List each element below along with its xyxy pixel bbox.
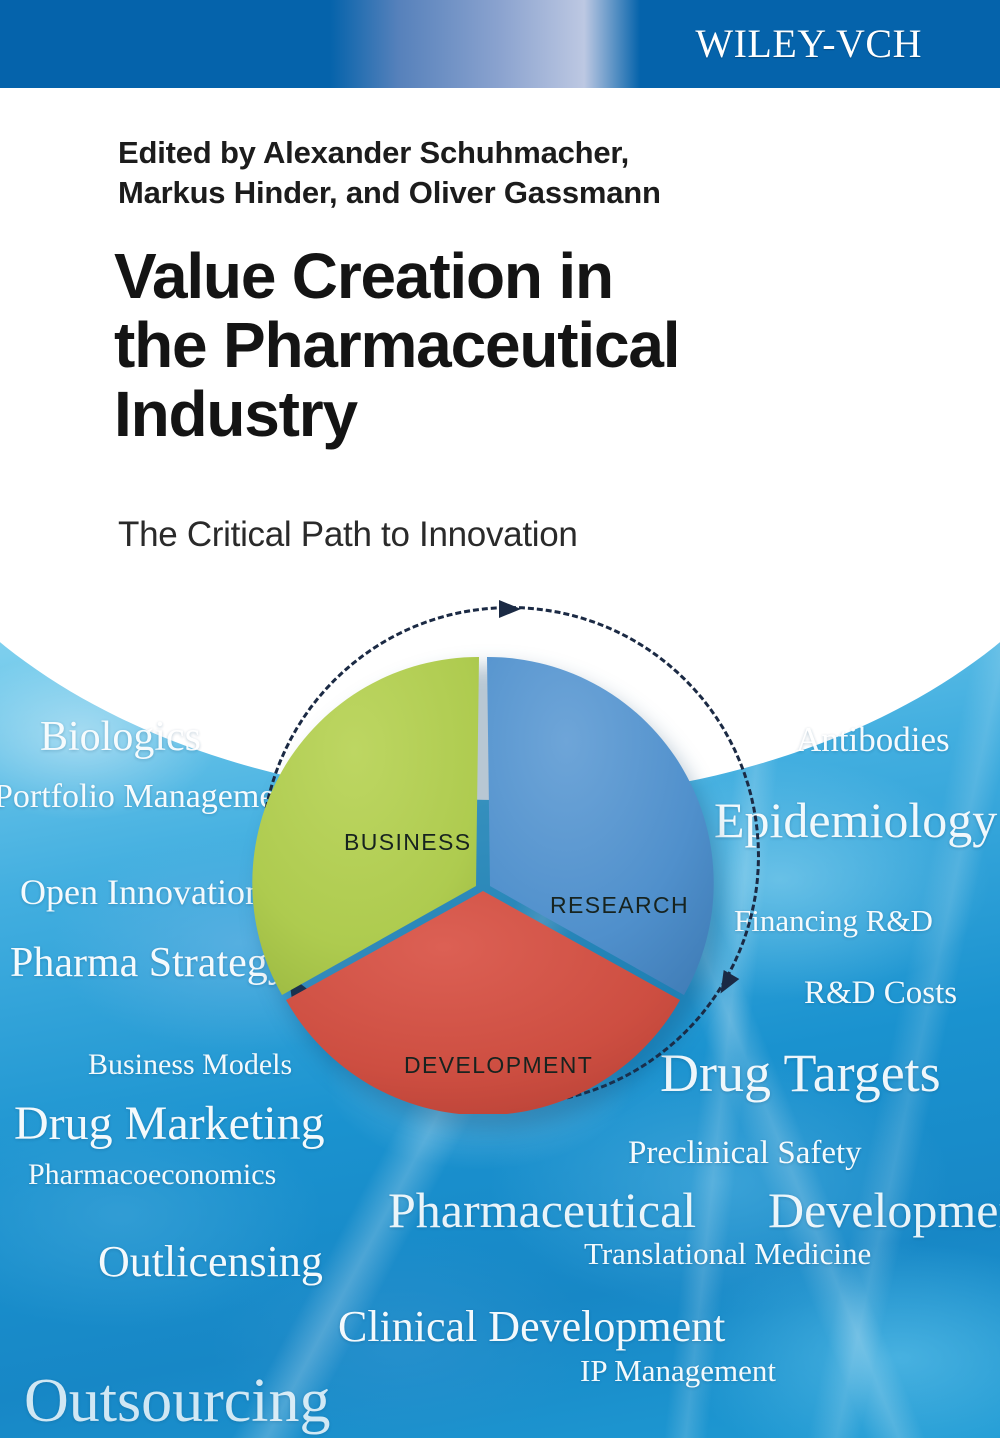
word-cloud-item: Development <box>768 1185 1000 1235</box>
word-cloud-item: Translational Medicine <box>584 1238 871 1269</box>
word-cloud-item: Outlicensing <box>98 1240 323 1284</box>
publisher-bar-gradient <box>330 0 640 88</box>
publisher-bar: WILEY-VCH <box>0 0 1000 88</box>
word-cloud-item: Biologics <box>40 716 201 758</box>
word-cloud-item: Open Innovation <box>20 874 263 910</box>
pie-label-research: RESEARCH <box>550 892 689 919</box>
wiley-vch-logo: WILEY-VCH <box>695 24 922 64</box>
title-line-2: the Pharmaceutical <box>114 311 894 380</box>
word-cloud-item: Antibodies <box>796 722 950 757</box>
word-cloud-item: Outsourcing <box>24 1370 331 1432</box>
editors-credit: Edited by Alexander Schuhmacher, Markus … <box>118 133 878 214</box>
editors-line-2: Markus Hinder, and Oliver Gassmann <box>118 173 878 213</box>
pie-label-development: DEVELOPMENT <box>404 1052 593 1079</box>
title-line-1: Value Creation in <box>114 242 894 311</box>
word-cloud-item: IP Management <box>580 1355 776 1386</box>
title-line-3: Industry <box>114 380 894 449</box>
book-cover: WILEY-VCH Edited by Alexander Schuhmache… <box>0 0 1000 1438</box>
value-chain-diagram: BUSINESS RESEARCH DEVELOPMENT <box>230 598 790 1158</box>
word-cloud-item: Pharmacoeconomics <box>28 1160 276 1190</box>
pie-slices <box>252 652 714 1114</box>
arrowhead-top-icon <box>499 600 521 618</box>
pie-label-business: BUSINESS <box>344 829 472 856</box>
word-cloud-item: Clinical Development <box>338 1305 725 1349</box>
pie-chart: BUSINESS RESEARCH DEVELOPMENT <box>252 652 730 1130</box>
word-cloud-item: Pharmaceutical <box>388 1185 696 1235</box>
page-subtitle: The Critical Path to Innovation <box>118 515 918 555</box>
page-title: Value Creation in the Pharmaceutical Ind… <box>114 242 894 449</box>
editors-line-1: Edited by Alexander Schuhmacher, <box>118 133 878 173</box>
word-cloud-item: R&D Costs <box>804 977 957 1010</box>
